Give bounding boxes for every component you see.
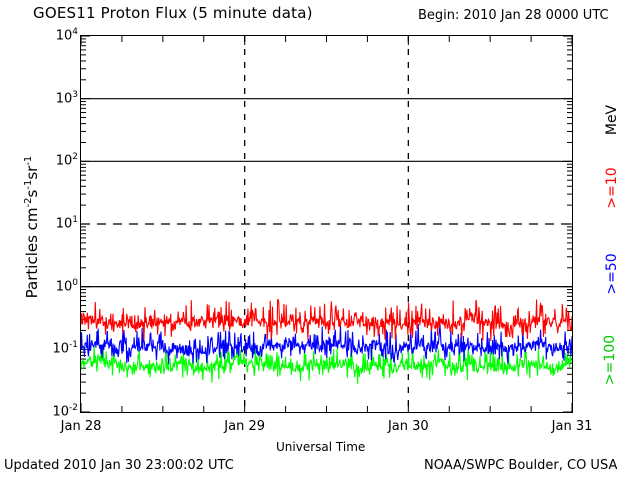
plot-svg: [81, 36, 572, 412]
y-tick-label: 100: [56, 278, 78, 294]
y-axis-tick-labels: 10410310210110010-110-2: [0, 0, 78, 480]
x-tick-label: Jan 30: [378, 419, 438, 434]
chart-page: GOES11 Proton Flux (5 minute data) Begin…: [0, 0, 640, 480]
y-tick-label: 101: [56, 215, 78, 231]
x-tick-label: Jan 31: [542, 419, 602, 434]
y-tick-label: 10-2: [52, 403, 78, 419]
plot-area: [80, 35, 573, 413]
y-tick-label: 104: [56, 27, 78, 43]
updated-timestamp: Updated 2010 Jan 30 23:00:02 UTC: [4, 458, 234, 473]
legend-unit-mev: MeV: [604, 85, 620, 155]
y-tick-label: 103: [56, 90, 78, 106]
y-tick-label: 102: [56, 152, 78, 168]
legend-item-ge10: >=10: [604, 153, 620, 223]
source-credit: NOAA/SWPC Boulder, CO USA: [424, 458, 617, 473]
data-series-ge10: [81, 300, 572, 341]
legend-item-ge100: >=100: [602, 325, 618, 395]
y-tick-label: 10-1: [52, 340, 78, 356]
legend-item-ge50: >=50: [604, 239, 620, 309]
x-tick-label: Jan 29: [215, 419, 275, 434]
x-axis-title: Universal Time: [276, 440, 365, 454]
begin-time-label: Begin: 2010 Jan 28 0000 UTC: [418, 8, 609, 23]
x-tick-label: Jan 28: [51, 419, 111, 434]
